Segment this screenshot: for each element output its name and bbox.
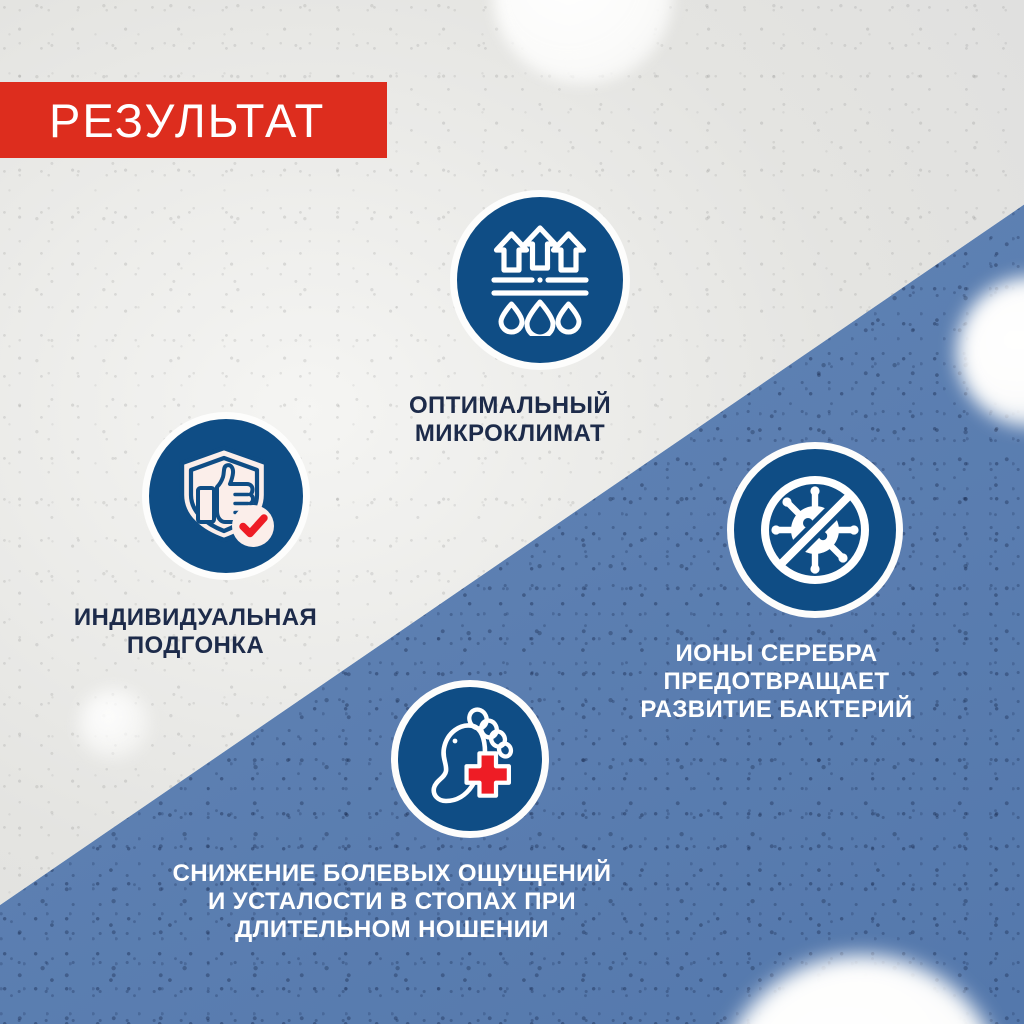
result-banner: РЕЗУЛЬТАТ [0,82,387,158]
feature-individual-fit: ИНДИВИДУАЛЬНАЯ ПОДГОНКА [142,412,310,660]
feature-icon-circle [391,680,549,838]
banner-title: РЕЗУЛЬТАТ [0,97,325,144]
feature-microclimate: ОПТИМАЛЬНЫЙ МИКРОКЛИМАТ [450,190,630,448]
feature-label: ИОНЫ СЕРЕБРА ПРЕДОТВРАЩАЕТ РАЗВИТИЕ БАКТ… [612,640,942,723]
shield-thumbs-up-check-icon [173,443,279,549]
feature-icon-circle [142,412,310,580]
feature-icon-circle [450,190,630,370]
infographic-poster: РЕЗУЛЬТАТ [0,0,1024,1024]
feature-label: ИНДИВИДУАЛЬНАЯ ПОДГОНКА [51,604,341,660]
feature-silver-ions: ИОНЫ СЕРЕБРА ПРЕДОТВРАЩАЕТ РАЗВИТИЕ БАКТ… [727,442,903,723]
breathability-icon [484,224,596,336]
feature-label: ОПТИМАЛЬНЫЙ МИКРОКЛИМАТ [360,392,660,448]
feature-icon-circle [727,442,903,618]
feature-label: СНИЖЕНИЕ БОЛЕВЫХ ОЩУЩЕНИЙ И УСТАЛОСТИ В … [157,860,627,943]
no-bacteria-icon [753,468,877,592]
feature-pain-reduction: СНИЖЕНИЕ БОЛЕВЫХ ОЩУЩЕНИЙ И УСТАЛОСТИ В … [391,680,549,943]
foot-medical-cross-icon [417,706,523,812]
